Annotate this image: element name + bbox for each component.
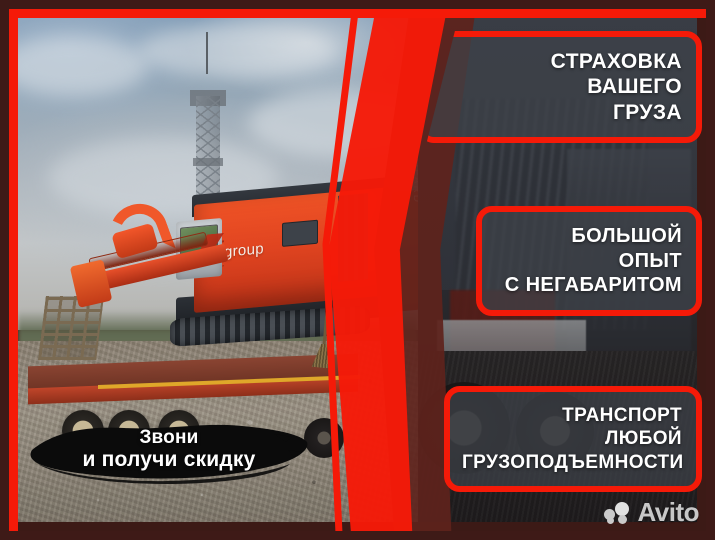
cta-text: Звони и получи скидку [28, 428, 310, 471]
badge-line: ЛЮБОЙ [462, 427, 682, 450]
feature-badge-insurance[interactable]: СТРАХОВКА ВАШЕГО ГРУЗА [418, 31, 702, 143]
advertisement-banner: LEOPARD group СТРАХОВКА ВАШЕГО ГРУЗА [0, 0, 715, 540]
divider-thin-line [300, 0, 420, 540]
feature-badge-experience[interactable]: БОЛЬШОЙ ОПЫТ С НЕГАБАРИТОМ [476, 206, 702, 316]
badge-line: ВАШЕГО [436, 74, 682, 100]
badge-line: БОЛЬШОЙ [494, 224, 682, 248]
cta-brush-stroke[interactable]: Звони и получи скидку [28, 420, 310, 484]
badge-line: СТРАХОВКА [436, 49, 682, 75]
feature-badge-capacity[interactable]: ТРАНСПОРТ ЛЮБОЙ ГРУЗОПОДЪЕМНОСТИ [444, 386, 702, 492]
avito-watermark: Avito [604, 497, 699, 528]
badge-line: С НЕГАБАРИТОМ [494, 273, 682, 297]
badge-line: ТРАНСПОРТ [462, 404, 682, 427]
avito-logo-icon [604, 502, 632, 524]
badge-line: ОПЫТ [494, 249, 682, 273]
cta-line-2: и получи скидку [28, 449, 310, 472]
machine-brand-text: group [224, 240, 264, 261]
badge-line: ГРУЗА [436, 100, 682, 126]
badge-line: ГРУЗОПОДЪЕМНОСТИ [462, 451, 682, 474]
cta-line-1: Звони [28, 428, 310, 449]
avito-wordmark: Avito [637, 497, 699, 528]
